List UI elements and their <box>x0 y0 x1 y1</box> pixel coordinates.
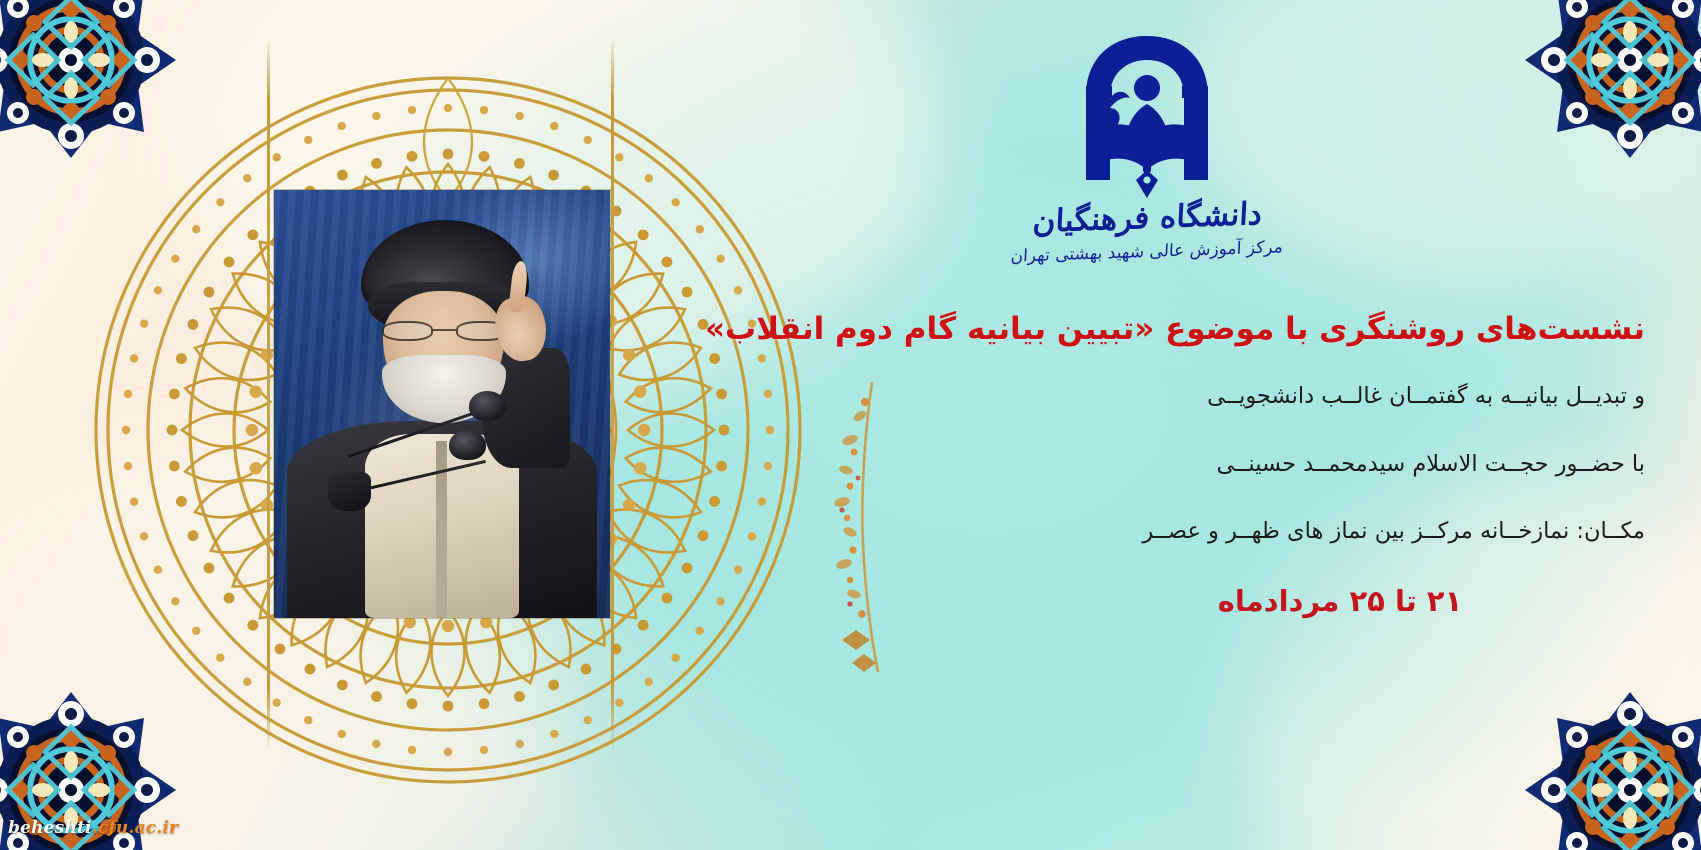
body-line: و تبدیــل بیانیــه به گفتمــان غالــب دا… <box>885 382 1645 411</box>
poster-headline: نشست‌های روشنگری با موضوع «تبیین بیانیه … <box>885 310 1645 349</box>
event-date: ۲۱ تا ۲۵ مردادماه <box>885 584 1645 618</box>
organization-subtitle: مرکز آموزش عالی شهید بهشتی تهران <box>1010 237 1283 266</box>
watermark-domain: .cfu.ac.ir <box>92 818 179 838</box>
watermark-name: beheshti <box>8 818 92 838</box>
body-line: با حضــور حجــت الاسلام سیدمحمــد حسینــ… <box>885 450 1645 479</box>
organization-logo: دانشگاه فرهنگیان مرکز آموزش عالی شهید به… <box>997 30 1297 262</box>
islamic-star-tile-ornament-icon <box>1525 680 1701 850</box>
poster-canvas: دانشگاه فرهنگیان مرکز آموزش عالی شهید به… <box>0 0 1701 850</box>
islamic-star-tile-ornament-icon <box>0 0 176 170</box>
mihrab-arch-open-book-pen-logo-icon <box>1072 30 1222 198</box>
site-watermark: beheshti.cfu.ac.ir <box>8 818 178 838</box>
portrait-frame-rule <box>611 36 614 752</box>
floral-vine-ornament-icon <box>820 382 894 672</box>
poster-body-lines: و تبدیــل بیانیــه به گفتمــان غالــب دا… <box>885 382 1645 546</box>
portrait-photo-speaker-at-microphones <box>274 190 610 618</box>
poster-content: دانشگاه فرهنگیان مرکز آموزش عالی شهید به… <box>885 30 1645 618</box>
body-line: مکــان: نمازخــانه مرکــز بین نماز های ظ… <box>885 517 1645 546</box>
organization-title: دانشگاه فرهنگیان <box>1032 198 1263 239</box>
portrait-frame-rule <box>267 36 270 752</box>
